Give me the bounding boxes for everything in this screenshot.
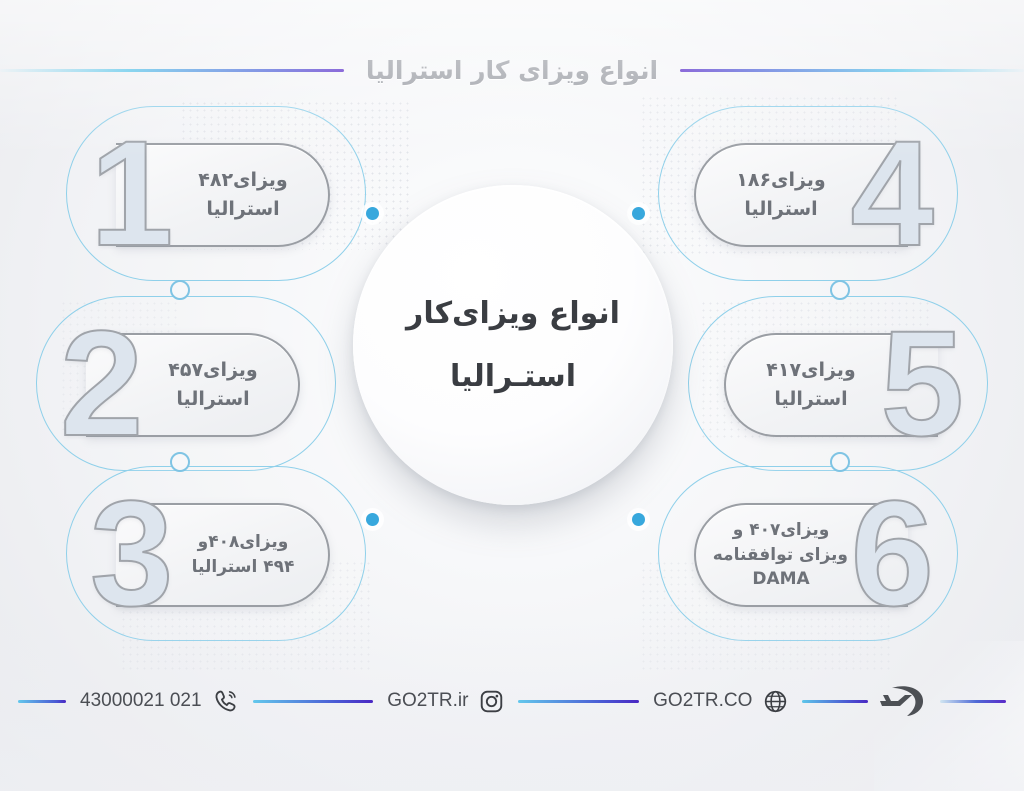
connector-dot bbox=[366, 513, 379, 526]
connector-dot bbox=[366, 207, 379, 220]
card-text-line: ویزای توافقنامه bbox=[714, 543, 848, 568]
card-number: 5 bbox=[881, 308, 964, 458]
card-number: 6 bbox=[851, 478, 934, 628]
instagram-label: GO2TR.ir bbox=[387, 690, 468, 712]
card-5[interactable]: 5 ویزای۴۱۷ استرالیا bbox=[688, 296, 988, 471]
infographic-canvas: انواع ویزای کار استرالیا 1 ویزای۴۸۲ استر… bbox=[0, 0, 1024, 791]
card-text: ویزای۱۸۶ استرالیا bbox=[714, 156, 848, 234]
card-text: ویزای۴۵۷ استرالیا bbox=[146, 346, 280, 424]
footer-rule bbox=[253, 700, 374, 703]
footer-rule bbox=[18, 700, 66, 703]
connector-dot bbox=[632, 207, 645, 220]
card-text: ویزای۴۸۲ استرالیا bbox=[176, 156, 310, 234]
connector-ring bbox=[830, 452, 850, 472]
footer-rule bbox=[940, 700, 1006, 703]
card-text-line: ویزای۴۱۷ bbox=[744, 356, 878, 385]
card-2[interactable]: 2 ویزای۴۵۷ استرالیا bbox=[36, 296, 336, 471]
center-title-line-1: انواع ویزای‌کار bbox=[406, 296, 620, 331]
website-link[interactable]: GO2TR.CO bbox=[639, 689, 802, 714]
connector-dot bbox=[632, 513, 645, 526]
card-text-line: ویزای۴۸۲ bbox=[176, 166, 310, 195]
card-text-line: ویزای۱۸۶ bbox=[714, 166, 848, 195]
phone-contact[interactable]: 43000021 021 bbox=[66, 688, 253, 714]
card-text: ویزای۴۰۷ و ویزای توافقنامه DAMA bbox=[714, 516, 848, 594]
card-number: 1 bbox=[90, 118, 173, 268]
card-text-line: استرالیا bbox=[176, 195, 310, 224]
footer-rule bbox=[518, 700, 639, 703]
card-text: ویزای۴۰۸و ۴۹۴ استرالیا bbox=[176, 516, 310, 594]
card-text-line: ویزای۴۰۷ و bbox=[714, 518, 848, 543]
card-text-line: استرالیا bbox=[744, 385, 878, 414]
header-rule-right bbox=[0, 69, 344, 72]
card-text-line: ویزای۴۰۸و bbox=[176, 530, 310, 555]
card-text: ویزای۴۱۷ استرالیا bbox=[744, 346, 878, 424]
card-number: 2 bbox=[60, 308, 143, 458]
center-circle: انواع ویزای‌کار استـرالیا bbox=[353, 185, 673, 505]
connector-ring bbox=[170, 452, 190, 472]
card-4[interactable]: 4 ویزای۱۸۶ استرالیا bbox=[658, 106, 958, 281]
header: انواع ویزای کار استرالیا bbox=[0, 44, 1024, 96]
phone-label: 43000021 021 bbox=[80, 690, 202, 712]
website-label: GO2TR.CO bbox=[653, 690, 752, 712]
phone-icon bbox=[213, 688, 239, 714]
card-text-line: استرالیا bbox=[146, 385, 280, 414]
instagram-link[interactable]: GO2TR.ir bbox=[373, 689, 518, 714]
connector-ring bbox=[830, 280, 850, 300]
card-text-line: ۴۹۴ استرالیا bbox=[176, 555, 310, 580]
card-number: 3 bbox=[90, 478, 173, 628]
card-text-line: DAMA bbox=[714, 567, 848, 592]
card-6[interactable]: 6 ویزای۴۰۷ و ویزای توافقنامه DAMA bbox=[658, 466, 958, 641]
header-rule-left bbox=[680, 69, 1024, 72]
globe-icon bbox=[763, 689, 788, 714]
card-3[interactable]: 3 ویزای۴۰۸و ۴۹۴ استرالیا bbox=[66, 466, 366, 641]
card-text-line: استرالیا bbox=[714, 195, 848, 224]
card-number: 4 bbox=[851, 118, 934, 268]
connector-ring bbox=[170, 280, 190, 300]
card-1[interactable]: 1 ویزای۴۸۲ استرالیا bbox=[66, 106, 366, 281]
footer-rule bbox=[802, 700, 868, 703]
footer: GO2TR.CO GO2TR.ir 43000021 021 bbox=[0, 678, 1024, 724]
brand-logo bbox=[868, 682, 940, 720]
card-text-line: ویزای۴۵۷ bbox=[146, 356, 280, 385]
page-title: انواع ویزای کار استرالیا bbox=[344, 56, 680, 85]
instagram-icon bbox=[479, 689, 504, 714]
center-title-line-2: استـرالیا bbox=[450, 359, 576, 394]
